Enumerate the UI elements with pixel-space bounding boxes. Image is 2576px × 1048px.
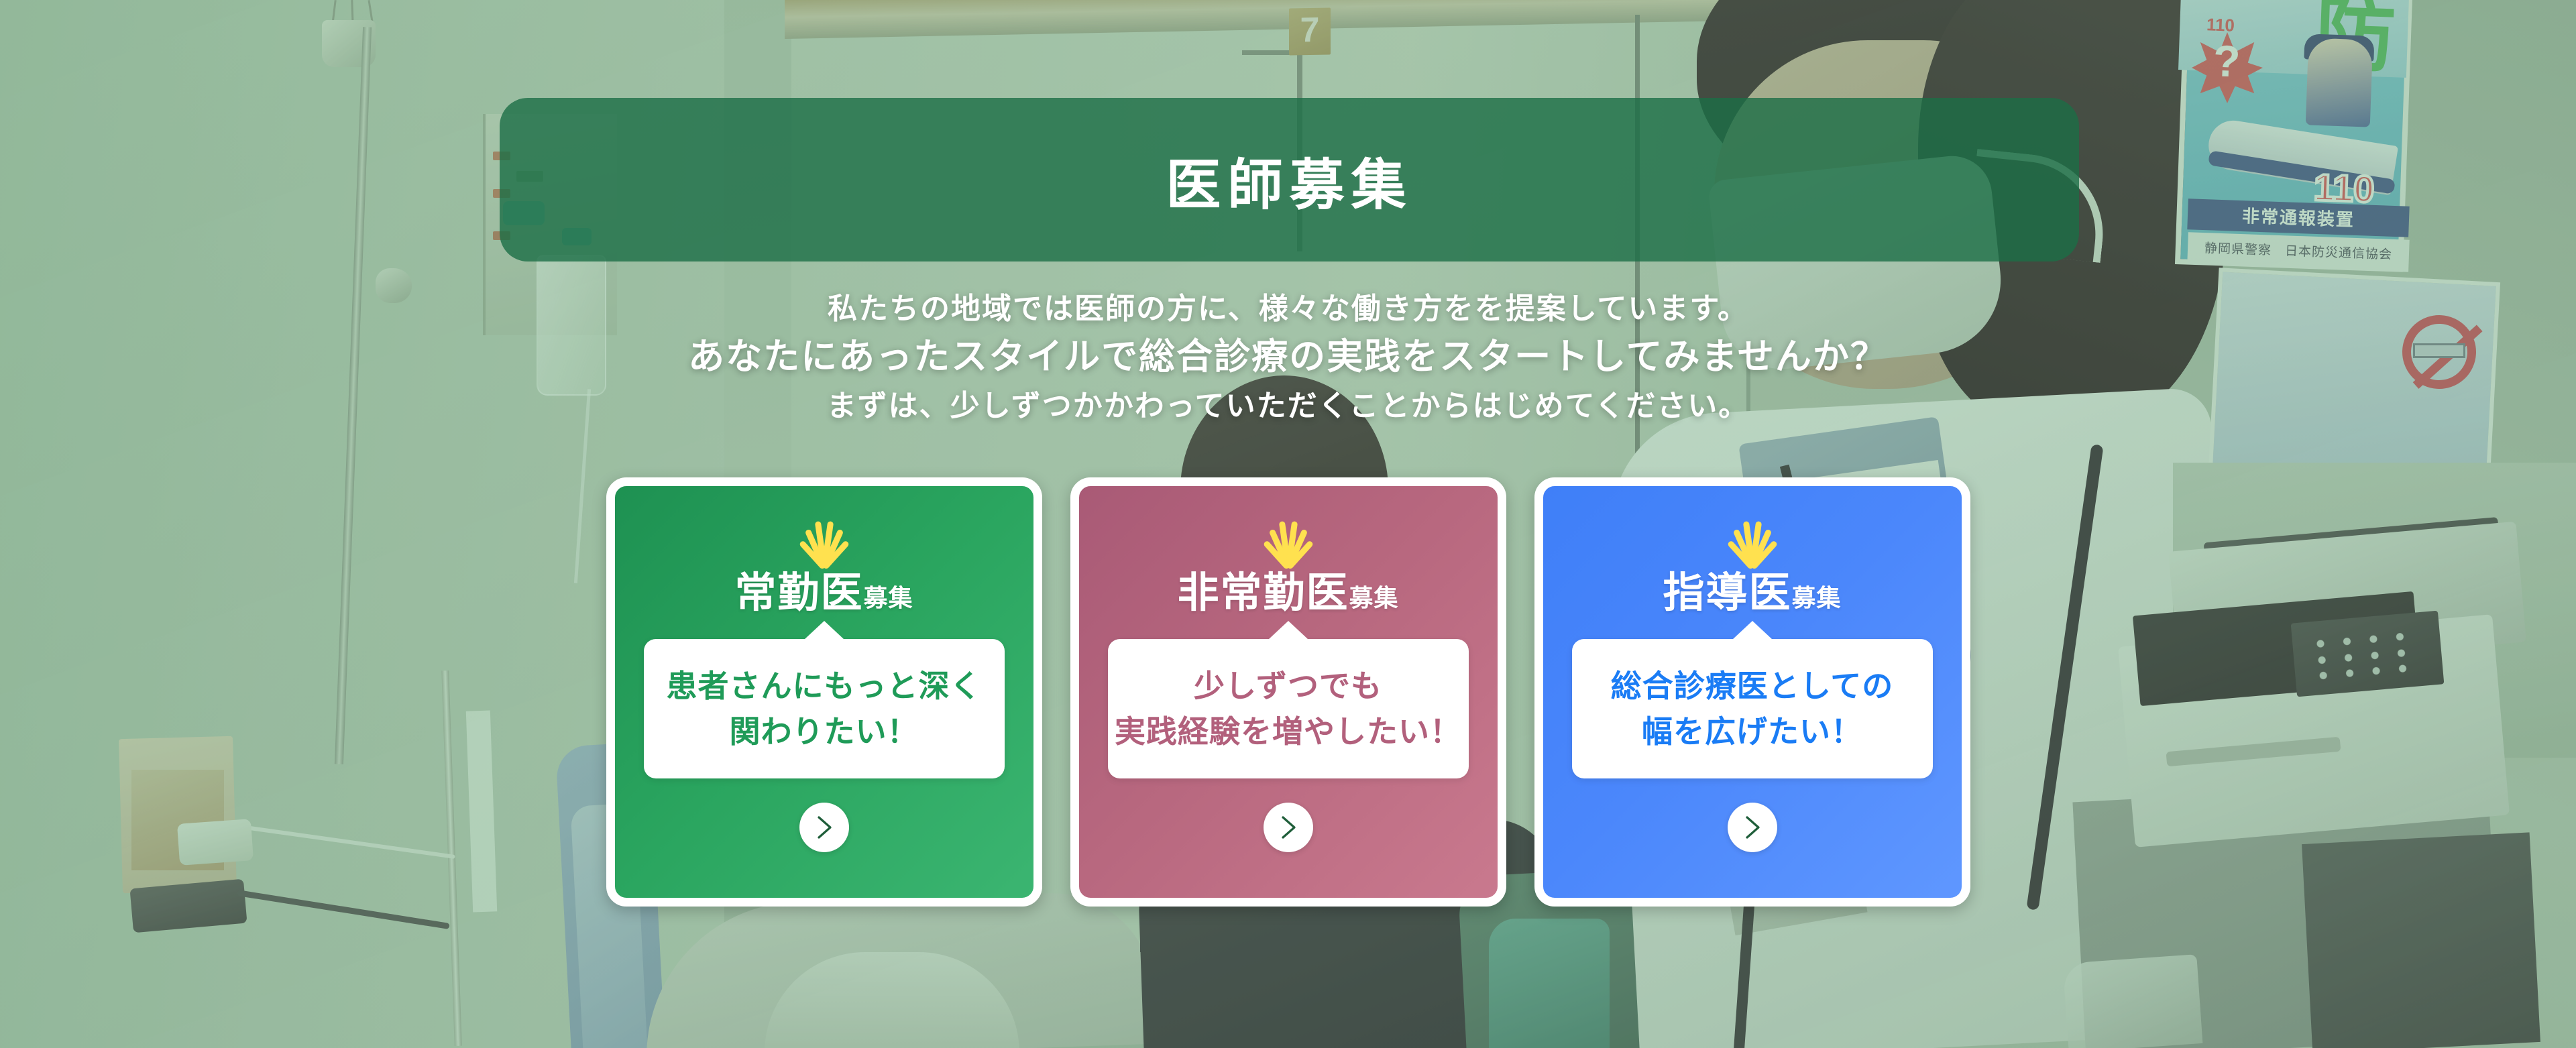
card-bubble-text: 患者さんにもっと深く 関わりたい！ — [667, 663, 982, 754]
subtitle-line-1: 私たちの地域では医師の方に、様々な働き方をを提案しています。 — [0, 288, 2576, 330]
subtitle-line-3: まずは、少しずつかかわっていただくことからはじめてください。 — [0, 384, 2576, 429]
card-speech-bubble: 患者さんにもっと深く 関わりたい！ — [644, 639, 1005, 778]
sparkle-burst-icon — [1225, 514, 1352, 568]
card-shidou-i[interactable]: 指導医 募集 総合診療医としての 幅を広げたい！ — [1534, 477, 1970, 907]
card-title: 指導医 募集 — [1663, 572, 1841, 614]
card-arrow-button[interactable] — [799, 803, 849, 852]
card-title-main: 常勤医 — [734, 572, 863, 614]
card-title-suffix: 募集 — [1349, 587, 1399, 614]
card-title: 常勤医 募集 — [734, 572, 913, 614]
card-hijoukin-i[interactable]: 非常勤医 募集 少しずつでも 実践経験を増やしたい！ — [1070, 477, 1506, 907]
title-banner: 医師募集 — [500, 98, 2079, 261]
card-bubble-text: 総合診療医としての 幅を広げたい！ — [1611, 663, 1894, 754]
card-title-suffix: 募集 — [1792, 587, 1842, 614]
subtitle-block: 私たちの地域では医師の方に、様々な働き方をを提案しています。 あなたにあったスタ… — [0, 288, 2576, 429]
chevron-right-icon — [1742, 814, 1762, 841]
card-joukin-i[interactable]: 常勤医 募集 患者さんにもっと深く 関わりたい！ — [606, 477, 1042, 907]
recruitment-card-list: 常勤医 募集 患者さんにもっと深く 関わりたい！ 非常勤医 募集 少しず — [0, 477, 2576, 907]
card-title-main: 指導医 — [1663, 572, 1791, 614]
card-speech-bubble: 少しずつでも 実践経験を増やしたい！ — [1108, 639, 1469, 778]
card-arrow-button[interactable] — [1728, 803, 1777, 852]
card-bubble-text: 少しずつでも 実践経験を増やしたい！ — [1115, 663, 1461, 754]
chevron-right-icon — [1278, 814, 1298, 841]
hero-content: 医師募集 私たちの地域では医師の方に、様々な働き方をを提案しています。 あなたに… — [0, 0, 2576, 1048]
page-title: 医師募集 — [1166, 140, 1412, 220]
chevron-right-icon — [814, 814, 834, 841]
subtitle-line-2: あなたにあったスタイルで総合診療の実践をスタートしてみませんか？ — [0, 330, 2576, 384]
card-title: 非常勤医 募集 — [1177, 572, 1398, 614]
card-title-suffix: 募集 — [864, 587, 913, 614]
card-arrow-button[interactable] — [1264, 803, 1313, 852]
card-speech-bubble: 総合診療医としての 幅を広げたい！ — [1572, 639, 1933, 778]
sparkle-burst-icon — [761, 514, 888, 568]
sparkle-burst-icon — [1689, 514, 1816, 568]
card-title-main: 非常勤医 — [1177, 572, 1349, 614]
